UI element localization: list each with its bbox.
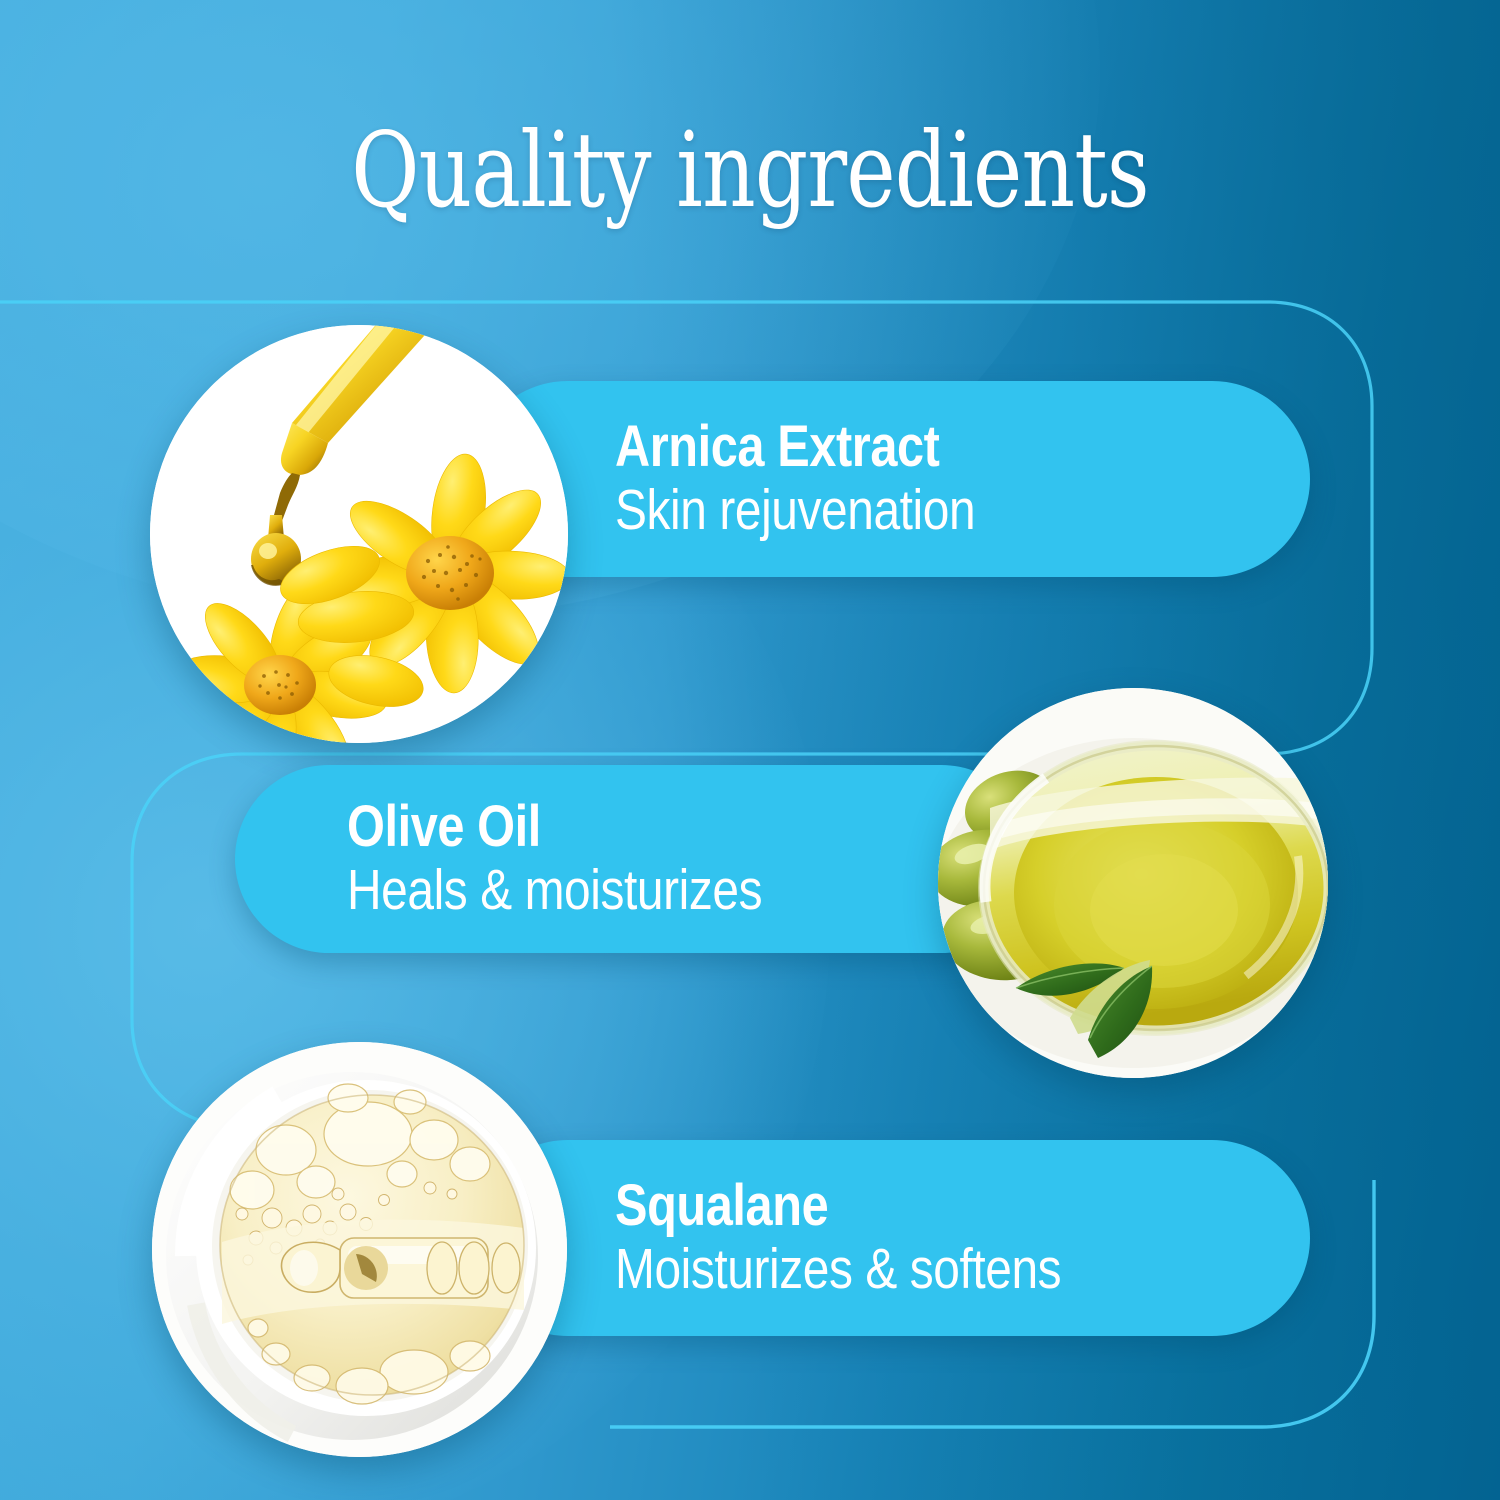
ingredient-pill-arnica[interactable]: Arnica Extract Skin rejuvenation (470, 381, 1310, 577)
ingredient-pill-squalane[interactable]: Squalane Moisturizes & softens (470, 1140, 1310, 1336)
arnica-flowers-dropper-illustration (150, 325, 568, 743)
page-title: Quality ingredients (150, 118, 1350, 222)
olive-oil-bowl-illustration (938, 688, 1328, 1078)
ingredient-image-olive-oil (938, 688, 1328, 1078)
ingredient-image-arnica (150, 325, 568, 743)
ingredient-pill-olive-oil[interactable]: Olive Oil Heals & moisturizes (235, 765, 1035, 953)
ingredient-image-squalane (152, 1042, 567, 1457)
ingredient-benefit-squalane: Moisturizes & softens (615, 1239, 1199, 1301)
ingredient-name-arnica: Arnica Extract (615, 417, 1199, 476)
ingredients-infographic: Quality ingredients Arnica Extract Skin … (0, 0, 1500, 1500)
ingredient-benefit-arnica: Skin rejuvenation (615, 480, 1199, 542)
ingredient-name-olive-oil: Olive Oil (347, 797, 925, 856)
ingredient-name-squalane: Squalane (615, 1176, 1199, 1235)
ingredient-benefit-olive-oil: Heals & moisturizes (347, 860, 925, 922)
squalane-serum-jar-illustration (152, 1042, 567, 1457)
